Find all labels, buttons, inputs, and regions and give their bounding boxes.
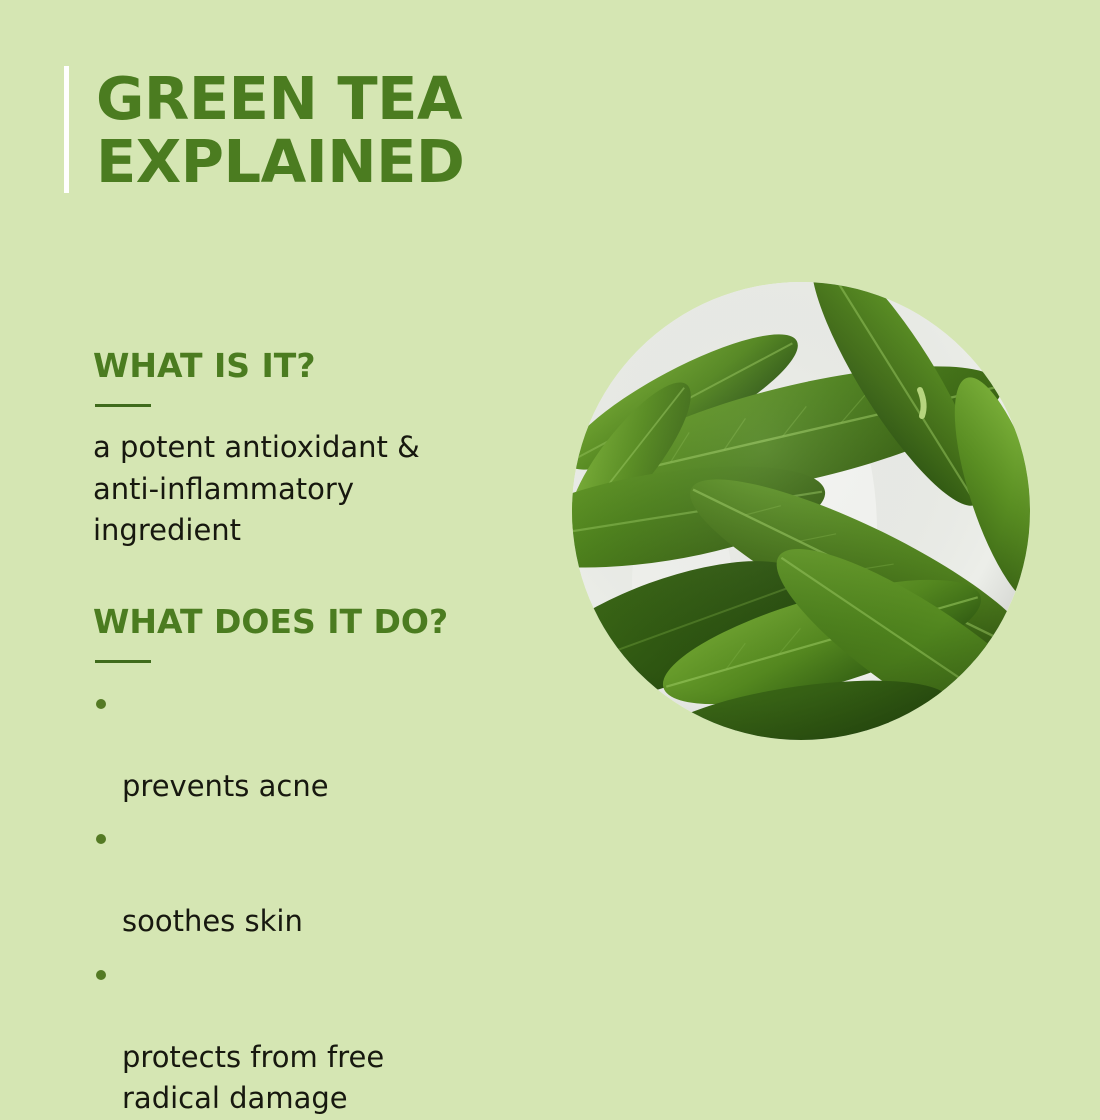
list-item-label: protects from free radical damage bbox=[122, 1040, 384, 1115]
bullet-dot-icon bbox=[96, 970, 106, 980]
section-heading-what-is-it: WHAT IS IT? bbox=[93, 348, 513, 384]
section-what-does-it-do: WHAT DOES IT DO? prevents acne soothes s… bbox=[93, 604, 513, 1120]
list-item-label: prevents acne bbox=[122, 769, 329, 803]
section-heading-what-does-it-do: WHAT DOES IT DO? bbox=[93, 604, 513, 640]
list-item: soothes skin bbox=[93, 818, 513, 942]
bullet-dot-icon bbox=[96, 834, 106, 844]
section-body-what-is-it: a potent antioxidant & anti-inflammatory… bbox=[93, 427, 513, 551]
green-tea-leaves-photo bbox=[572, 282, 1030, 740]
list-item-label: soothes skin bbox=[122, 904, 303, 938]
section-what-is-it: WHAT IS IT? a potent antioxidant & anti-… bbox=[93, 348, 513, 552]
page-title: GREEN TEA EXPLAINED bbox=[96, 66, 464, 193]
page-title-block: GREEN TEA EXPLAINED bbox=[64, 66, 464, 193]
leaf-photo-illustration bbox=[572, 282, 1030, 740]
content-column: WHAT IS IT? a potent antioxidant & anti-… bbox=[93, 348, 513, 1120]
bullet-dot-icon bbox=[96, 699, 106, 709]
section-divider-rule bbox=[95, 660, 151, 663]
section-divider-rule bbox=[95, 404, 151, 407]
list-item: protects from free radical damage bbox=[93, 954, 513, 1120]
benefits-list: prevents acne soothes skin protects from… bbox=[93, 683, 513, 1120]
title-accent-bar bbox=[64, 66, 69, 193]
list-item: prevents acne bbox=[93, 683, 513, 807]
